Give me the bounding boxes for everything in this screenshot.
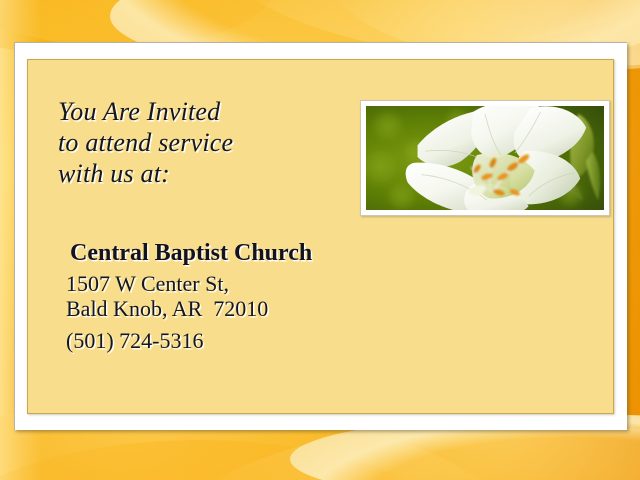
- address-line-1: 1507 W Center St,: [66, 271, 229, 296]
- lily-photo-frame: [360, 100, 610, 216]
- lily-photo: [366, 106, 604, 210]
- lily-photo-illustration: [366, 106, 604, 210]
- headline-line-2: to attend service: [58, 128, 233, 157]
- slide-content-panel: You Are Invitedto attend servicewith us …: [27, 59, 614, 414]
- organization-name: Central Baptist Church: [70, 239, 312, 267]
- slide-white-frame: You Are Invitedto attend servicewith us …: [14, 42, 627, 430]
- address-line-2: Bald Knob, AR 72010: [66, 296, 268, 321]
- invitation-slide: You Are Invitedto attend servicewith us …: [0, 0, 640, 480]
- invitation-headline: You Are Invitedto attend servicewith us …: [58, 96, 233, 189]
- address-block: 1507 W Center St,Bald Knob, AR 72010: [66, 271, 268, 321]
- headline-line-3: with us at:: [58, 159, 170, 188]
- phone-number: (501) 724-5316: [66, 328, 203, 353]
- headline-line-1: You Are Invited: [58, 97, 220, 126]
